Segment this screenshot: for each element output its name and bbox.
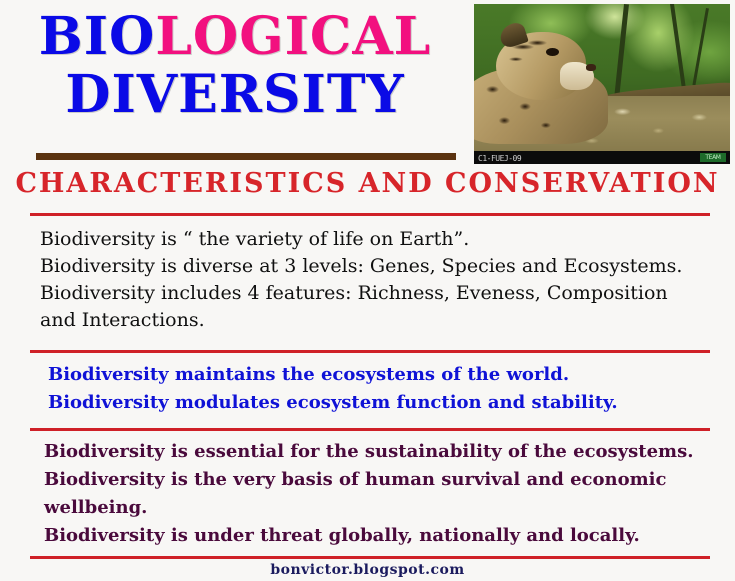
ocelot-photo: C1-FUEJ-09 TEAM	[474, 4, 730, 164]
conservation-line: wellbeing.	[44, 494, 716, 522]
title-bio-text: BIO	[39, 6, 156, 67]
camera-timestamp: C1-FUEJ-09	[478, 154, 521, 163]
poster-subtitle: CHARACTERISTICS AND CONSERVATION	[0, 168, 735, 199]
definition-text-block: Biodiversity is “ the variety of life on…	[40, 226, 712, 334]
conservation-line: Biodiversity is essential for the sustai…	[44, 438, 716, 466]
conservation-line: Biodiversity is under threat globally, n…	[44, 522, 716, 550]
function-text-block: Biodiversity maintains the ecosystems of…	[48, 361, 720, 417]
ocelot-nose	[586, 64, 596, 71]
conservation-text-block: Biodiversity is essential for the sustai…	[44, 438, 716, 550]
function-line: Biodiversity modulates ecosystem functio…	[48, 389, 720, 417]
divider-rule-top	[30, 213, 710, 216]
divider-rule-second	[30, 350, 710, 353]
conservation-line: Biodiversity is the very basis of human …	[44, 466, 716, 494]
definition-line: Biodiversity is diverse at 3 levels: Gen…	[40, 253, 712, 280]
function-line: Biodiversity maintains the ecosystems of…	[48, 361, 720, 389]
title-logical-text: LOGICAL	[155, 6, 431, 67]
ocelot-eye	[546, 48, 559, 56]
title-line-one: BIOLOGICAL	[0, 8, 470, 66]
title-diversity-text: DIVERSITY	[0, 66, 470, 124]
footer-credit: bonvictor.blogspot.com	[0, 562, 735, 578]
divider-rule-bottom	[30, 556, 710, 559]
brown-divider-bar	[36, 153, 456, 160]
poster-title: BIOLOGICAL DIVERSITY	[0, 8, 470, 124]
divider-rule-third	[30, 428, 710, 431]
definition-line: Biodiversity includes 4 features: Richne…	[40, 280, 712, 307]
poster-canvas: BIOLOGICAL DIVERSITY C1-FUEJ-09 TEAM CHA…	[0, 0, 735, 581]
definition-line: and Interactions.	[40, 307, 712, 334]
photo-watermark-logo: TEAM	[700, 153, 726, 162]
definition-line: Biodiversity is “ the variety of life on…	[40, 226, 712, 253]
